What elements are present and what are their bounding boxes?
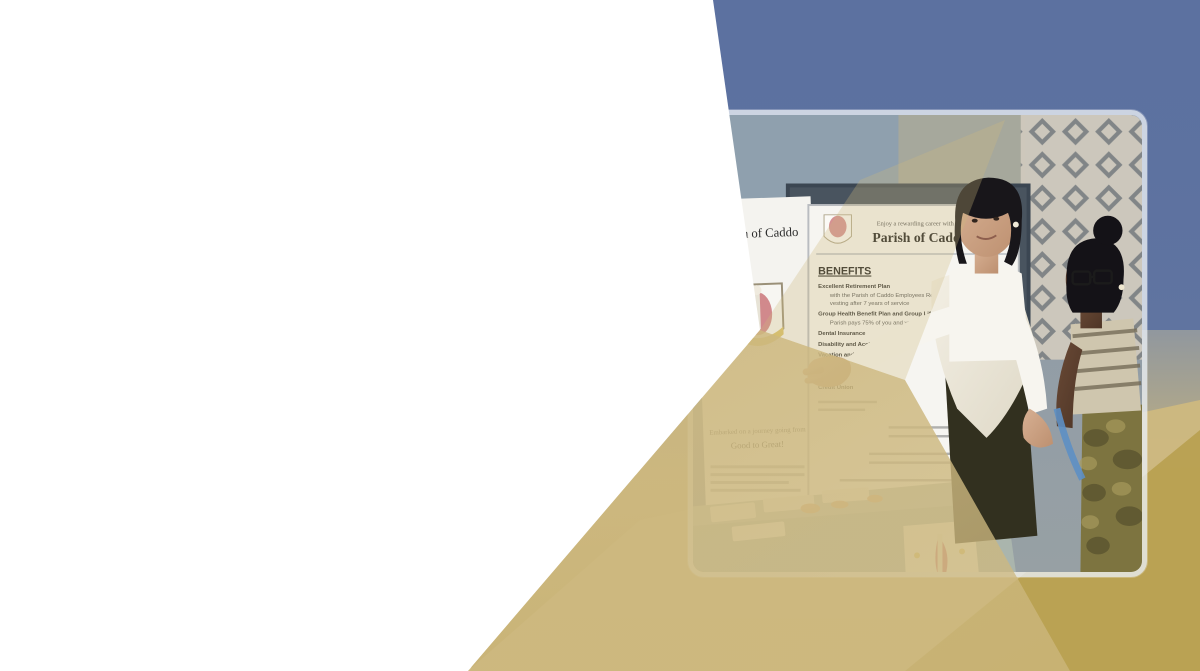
parish-banner: Parish of Caddo Embarked on a journey go… [695,196,822,523]
svg-text:Enjoy a rewarding career with: Enjoy a rewarding career with the [877,221,964,228]
page-title: Human Resources [54,150,644,217]
svg-text:Parish of Caddo: Parish of Caddo [872,230,967,245]
svg-text:vesting after 7 years of servi: vesting after 7 years of service [830,301,909,307]
text-content-column: Human Resources Our mission is to provid… [54,150,644,411]
svg-text:Dental Insurance: Dental Insurance [818,331,866,337]
benefits-fair-photo: Parish of Caddo Embarked on a journey go… [693,115,1142,572]
svg-text:Parish of Caddo: Parish of Caddo [716,225,798,242]
hr-slide: Parish of Caddo Embarked on a journey go… [0,0,1200,671]
svg-text:BENEFITS: BENEFITS [818,266,871,278]
svg-text:Good to Great!: Good to Great! [731,439,785,451]
photo-card: Parish of Caddo Embarked on a journey go… [688,110,1147,577]
mission-statement: Our mission is to provide comprehensive … [54,309,629,411]
svg-text:Excellent Retirement Plan: Excellent Retirement Plan [818,284,890,290]
